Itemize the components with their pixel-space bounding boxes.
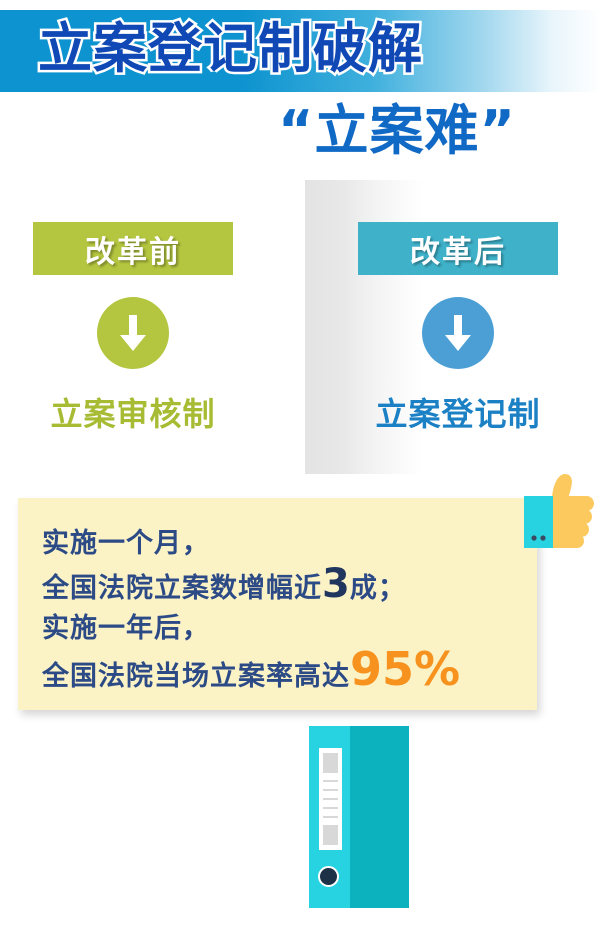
arrow-down-icon-before <box>97 297 169 369</box>
binder-label <box>319 748 342 850</box>
statistics-callout: 实施一个月， 全国法院立案数增幅近3成； 实施一年后， 全国法院当场立案率高达9… <box>18 498 537 710</box>
binder-label-line <box>323 816 338 818</box>
callout-line-1-text: 实施一个月， <box>42 528 210 559</box>
banner-after-reform: 改革后 <box>358 222 558 275</box>
binder-label-line <box>323 807 338 809</box>
thumbs-up-icon <box>500 470 598 556</box>
callout-line-2-suffix: 成； <box>350 573 406 604</box>
label-before-reform: 立案审核制 <box>18 389 248 435</box>
page-title-line-1: 立案登记制破解 <box>38 22 423 76</box>
callout-line-4-prefix: 全国法院当场立案率高达 <box>42 661 350 692</box>
page-title-line-2: “立案难” <box>278 104 516 158</box>
binder-ring-hole <box>318 866 339 887</box>
callout-line-4: 全国法院当场立案率高达95% <box>42 649 537 697</box>
binder-label-line <box>323 798 338 800</box>
comparison-column-before: 改革前 立案审核制 <box>18 222 248 435</box>
binder-label-line <box>323 780 338 782</box>
callout-line-1: 实施一个月， <box>42 524 537 564</box>
arrow-down-icon-after <box>422 297 494 369</box>
callout-line-2-prefix: 全国法院立案数增幅近 <box>42 573 322 604</box>
infographic-page: 立案登记制破解 “立案难” 改革前 立案审核制 改革后 立案登记制 <box>0 0 600 928</box>
callout-line-3: 实施一年后， <box>42 609 537 649</box>
banner-before-reform: 改革前 <box>33 222 233 275</box>
callout-line-2: 全国法院立案数增幅近3成； <box>42 564 537 609</box>
binder-label-block-bottom <box>323 825 338 845</box>
label-after-reform: 立案登记制 <box>343 389 573 435</box>
callout-line-3-text: 实施一年后， <box>42 613 210 644</box>
stat-growth-number: 3 <box>322 561 350 607</box>
stat-rate-number: 95% <box>350 642 460 696</box>
comparison-column-after: 改革后 立案登记制 <box>343 222 573 435</box>
binder-label-block-top <box>323 753 338 773</box>
binder-folder-icon <box>309 726 409 908</box>
binder-label-line <box>323 789 338 791</box>
